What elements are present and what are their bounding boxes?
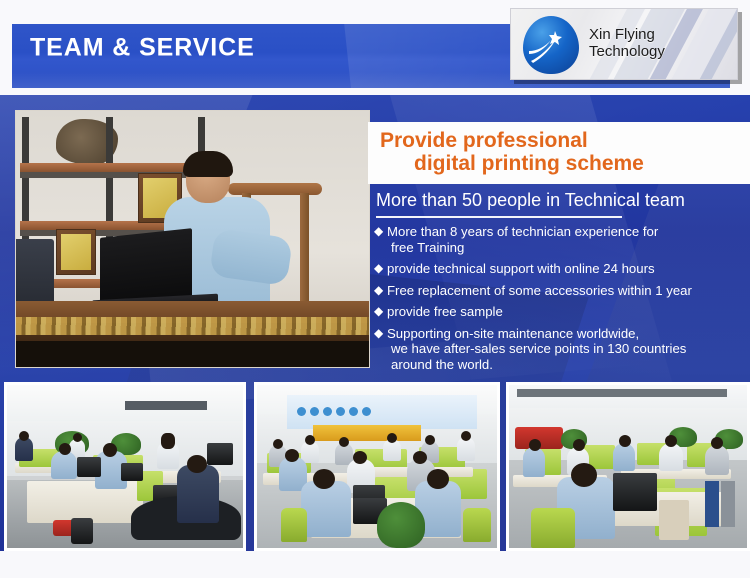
list-item-text: Supporting on-site maintenance worldwide… xyxy=(387,326,750,373)
subtitle: More than 50 people in Technical team xyxy=(376,190,748,211)
list-item: ◆ More than 8 years of technician experi… xyxy=(374,224,750,255)
headline-line-1: Provide professional xyxy=(368,130,750,153)
office-photo-open-plan-workstations xyxy=(4,382,246,551)
list-item: ◆ Supporting on-site maintenance worldwi… xyxy=(374,326,750,373)
list-item-text: provide free sample xyxy=(387,304,750,320)
list-item-text: provide technical support with online 24… xyxy=(387,261,750,277)
logo-line-2: Technology xyxy=(589,44,665,61)
diamond-bullet-icon: ◆ xyxy=(374,283,387,298)
desk xyxy=(16,301,369,367)
office-photo-large-team-room xyxy=(254,382,500,551)
list-item-text: More than 8 years of technician experien… xyxy=(387,224,750,255)
list-item: ◆ Free replacement of some accessories w… xyxy=(374,283,750,299)
company-logo[interactable]: Xin Flying Technology xyxy=(510,8,738,80)
office-photo-workstations-with-printer xyxy=(506,382,750,551)
bird-swoosh-icon xyxy=(525,27,569,69)
header: TEAM & SERVICE Xin Flying Technology xyxy=(0,0,750,95)
subtitle-underline xyxy=(376,216,622,218)
list-item-text: Free replacement of some accessories wit… xyxy=(387,283,750,299)
hero-photo-technician-at-desk xyxy=(15,110,370,368)
person-hair xyxy=(183,151,233,177)
feature-bullet-list: ◆ More than 8 years of technician experi… xyxy=(374,224,750,379)
logo-wordmark: Xin Flying Technology xyxy=(589,27,665,61)
diamond-bullet-icon: ◆ xyxy=(374,261,387,276)
list-item: ◆ provide technical support with online … xyxy=(374,261,750,277)
list-item: ◆ provide free sample xyxy=(374,304,750,320)
slide-root: TEAM & SERVICE Xin Flying Technology xyxy=(0,0,750,578)
headline-panel: Provide professional digital printing sc… xyxy=(368,122,750,184)
page-title: TEAM & SERVICE xyxy=(30,33,255,62)
diamond-bullet-icon: ◆ xyxy=(374,304,387,319)
office-photo-gallery xyxy=(0,382,750,551)
headline-line-2: digital printing scheme xyxy=(368,153,750,176)
diamond-bullet-icon: ◆ xyxy=(374,326,387,341)
logo-line-1: Xin Flying xyxy=(589,27,665,44)
diamond-bullet-icon: ◆ xyxy=(374,224,387,239)
